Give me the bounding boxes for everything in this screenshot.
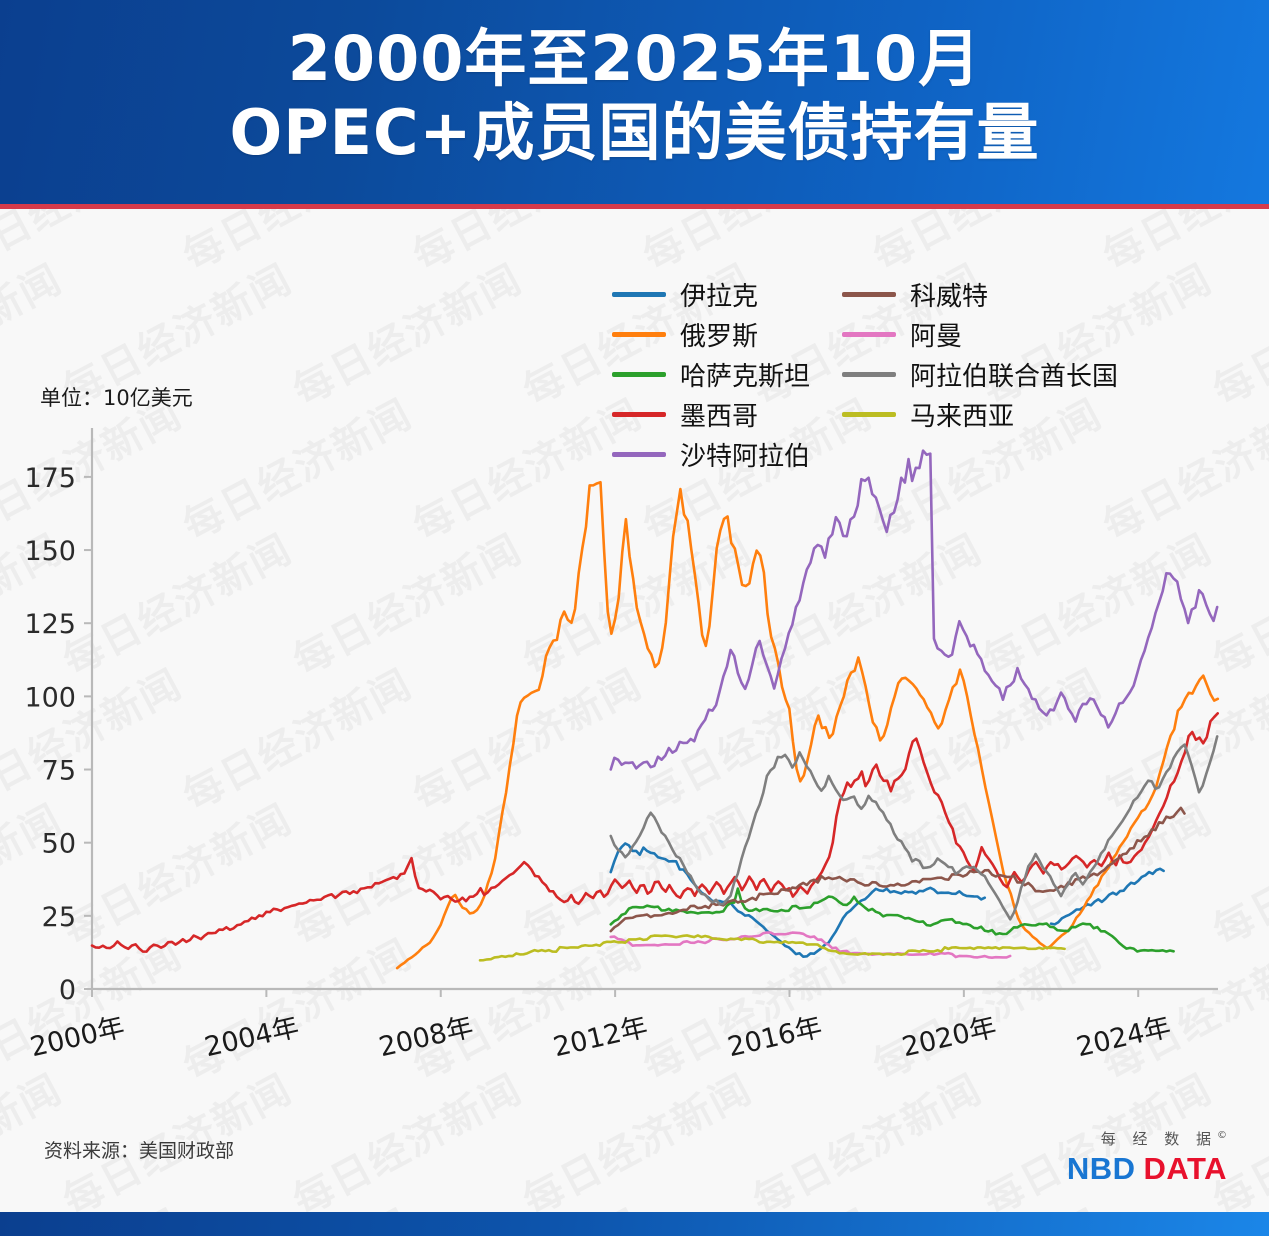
x-tick-label: 2012年 <box>550 1012 650 1064</box>
legend-color-swatch <box>842 412 896 417</box>
data-series-group <box>92 451 1218 969</box>
y-tick-label: 175 <box>24 463 76 494</box>
title-line-1: 2000年至2025年10月 <box>0 22 1269 96</box>
legend-item-伊拉克[interactable]: 伊拉克 <box>612 276 810 312</box>
legend-label: 阿曼 <box>910 316 962 353</box>
x-tick-label: 2000年 <box>27 1012 127 1064</box>
legend-item-阿曼[interactable]: 阿曼 <box>842 316 1118 352</box>
legend-label: 俄罗斯 <box>680 316 758 353</box>
infographic-page: 每日经济新闻每日经济新闻每日经济新闻每日经济新闻每日经济新闻每日经济新闻每日经济… <box>0 0 1269 1236</box>
title-line-2: OPEC+成员国的美债持有量 <box>0 96 1269 170</box>
legend-item-科威特[interactable]: 科威特 <box>842 276 1118 312</box>
legend-label: 墨西哥 <box>680 396 758 433</box>
legend-color-swatch <box>612 372 666 377</box>
series-line-沙特阿拉伯 <box>611 451 1217 770</box>
series-line-俄罗斯 <box>397 482 1218 968</box>
x-axis-ticks: 2000年2004年2008年2012年2016年2020年2024年 <box>27 989 1173 1063</box>
legend-color-swatch <box>612 332 666 337</box>
brand-logo: NBDDATA <box>1067 1151 1227 1187</box>
legend-color-swatch <box>842 292 896 297</box>
x-tick-label: 2004年 <box>202 1012 302 1064</box>
legend-label: 沙特阿拉伯 <box>680 436 810 473</box>
source-note: 资料来源：美国财政部 <box>44 1136 234 1163</box>
legend-item-马来西亚[interactable]: 马来西亚 <box>842 396 1118 432</box>
y-tick-label: 75 <box>42 756 76 787</box>
legend-column: 科威特阿曼阿拉伯联合酋长国马来西亚 <box>842 276 1118 472</box>
legend-item-哈萨克斯坦[interactable]: 哈萨克斯坦 <box>612 356 810 392</box>
header-red-rule <box>0 204 1269 209</box>
header-banner: 2000年至2025年10月 OPEC+成员国的美债持有量 <box>0 0 1269 204</box>
legend-color-swatch <box>842 372 896 377</box>
legend-color-swatch <box>612 452 666 457</box>
brand-chinese: 每 经 数 据© <box>1067 1128 1227 1149</box>
legend-label: 伊拉克 <box>680 276 758 313</box>
y-tick-label: 125 <box>24 609 76 640</box>
axes <box>92 428 1218 989</box>
x-tick-label: 2020年 <box>899 1012 999 1064</box>
brand-chinese-text: 每 经 数 据 <box>1101 1130 1217 1148</box>
brand-block: 每 经 数 据© NBDDATA <box>1067 1128 1227 1187</box>
copyright-mark: © <box>1217 1130 1227 1141</box>
series-line-伊拉克 <box>611 843 985 956</box>
y-tick-label: 150 <box>24 536 76 567</box>
legend-color-swatch <box>612 412 666 417</box>
y-tick-label: 50 <box>42 829 76 860</box>
footer-bar <box>0 1212 1269 1236</box>
legend-color-swatch <box>842 332 896 337</box>
legend-item-沙特阿拉伯[interactable]: 沙特阿拉伯 <box>612 436 810 472</box>
legend-label: 阿拉伯联合酋长国 <box>910 356 1118 393</box>
legend-item-墨西哥[interactable]: 墨西哥 <box>612 396 810 432</box>
legend-color-swatch <box>612 292 666 297</box>
legend-item-俄罗斯[interactable]: 俄罗斯 <box>612 316 810 352</box>
page-title: 2000年至2025年10月 OPEC+成员国的美债持有量 <box>0 22 1269 170</box>
x-tick-label: 2008年 <box>376 1012 476 1064</box>
legend-label: 马来西亚 <box>910 396 1014 433</box>
y-axis-unit-label: 单位：10亿美元 <box>40 382 193 412</box>
legend-item-阿拉伯联合酋长国[interactable]: 阿拉伯联合酋长国 <box>842 356 1118 392</box>
y-axis-ticks: 0255075100125150175 <box>24 463 92 1006</box>
x-tick-label: 2016年 <box>725 1012 825 1064</box>
legend-label: 哈萨克斯坦 <box>680 356 810 393</box>
legend-column: 伊拉克俄罗斯哈萨克斯坦墨西哥沙特阿拉伯 <box>612 276 810 472</box>
y-tick-label: 0 <box>59 975 76 1006</box>
chart-legend: 伊拉克俄罗斯哈萨克斯坦墨西哥沙特阿拉伯科威特阿曼阿拉伯联合酋长国马来西亚 <box>612 276 1118 472</box>
brand-logo-nbd: NBD <box>1067 1151 1136 1186</box>
y-tick-label: 25 <box>42 902 76 933</box>
y-tick-label: 100 <box>24 682 76 713</box>
x-tick-label: 2024年 <box>1074 1012 1174 1064</box>
series-line-伊拉克 <box>1051 869 1164 925</box>
brand-logo-data: DATA <box>1144 1151 1228 1186</box>
legend-label: 科威特 <box>910 276 988 313</box>
